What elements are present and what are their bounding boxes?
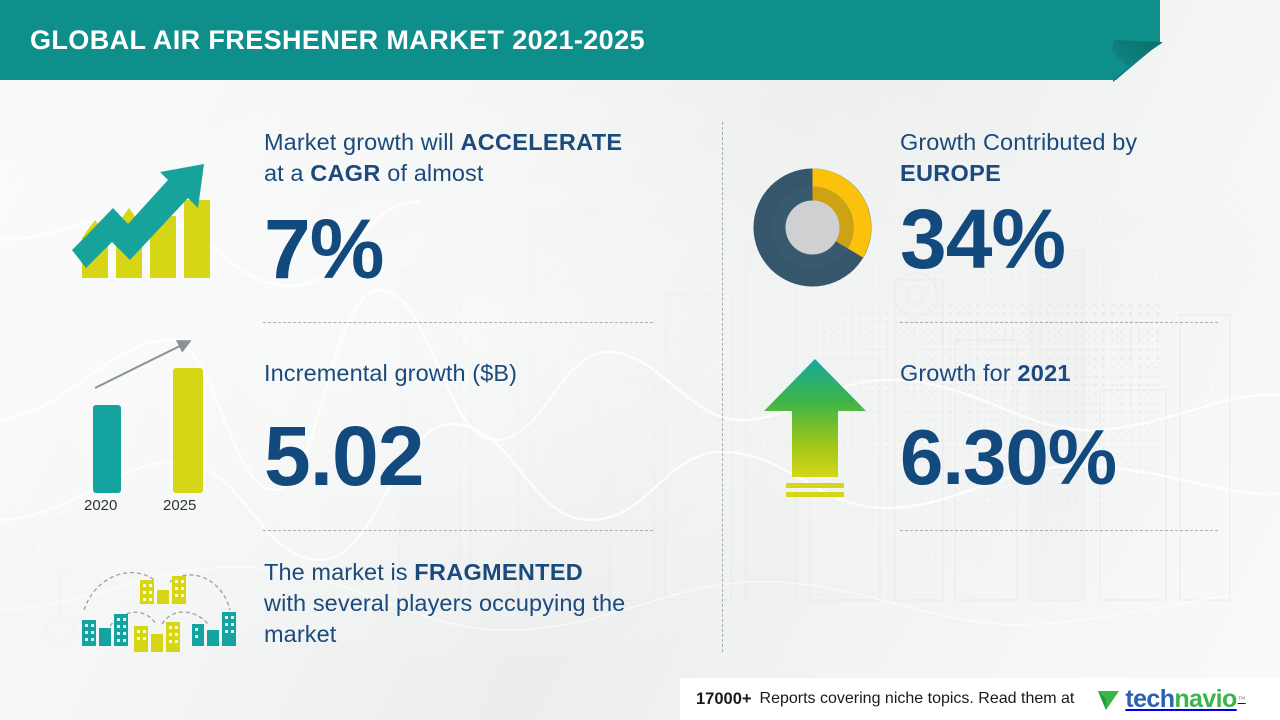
fragmentation-text-b: with several players occupying the [264,590,625,616]
logo-word-tech: tech [1125,685,1174,713]
cagr-text-accelerate: ACCELERATE [460,129,622,155]
growth-2021-label: Growth for 2021 [900,358,1071,389]
technavio-arrow-icon [1096,686,1122,712]
divider-right-2 [900,530,1218,531]
cagr-text-a: Market growth will [264,129,460,155]
logo-trademark: ™ [1238,695,1246,704]
divider-right-1 [900,322,1218,323]
cagr-description: Market growth will ACCELERATE at a CAGR … [264,127,664,189]
footer-report-count: 17000+ [696,690,752,709]
footer-bar: 17000+ Reports covering niche topics. Re… [680,678,1280,720]
cagr-value: 7% [264,207,383,291]
europe-contribution-label: Growth Contributed by EUROPE [900,127,1220,189]
infographic-canvas: GLOBAL AIR FRESHENER MARKET 2021-2025 Ma… [0,0,1280,720]
two-bar-chart-icon [70,330,230,515]
growth-2021-value: 6.30% [900,418,1116,496]
donut-chart-icon [745,160,880,295]
incremental-growth-value: 5.02 [264,414,424,498]
bar-label-2025: 2025 [163,497,196,514]
cagr-text-b: at a [264,160,310,186]
divider-left-2 [263,530,653,531]
cagr-text-cagr: CAGR [310,160,380,186]
cagr-text-c: of almost [381,160,484,186]
technavio-wordmark: technavio [1125,687,1236,712]
europe-label-bold: EUROPE [900,160,1001,186]
divider-left-1 [263,322,653,323]
column-divider [722,122,723,652]
up-arrow-icon [760,355,870,505]
logo-word-navio: navio [1174,685,1236,713]
europe-contribution-value: 34% [900,197,1065,281]
fragmentation-text-fragmented: FRAGMENTED [414,559,583,585]
page-title: GLOBAL AIR FRESHENER MARKET 2021-2025 [30,0,645,80]
fragmentation-text-a: The market is [264,559,414,585]
incremental-growth-label: Incremental growth ($B) [264,358,517,389]
fragmentation-description: The market is FRAGMENTED with several pl… [264,557,684,650]
growth-arrow-bars-icon [68,150,228,290]
city-cluster-icon [62,558,252,663]
technavio-logo[interactable]: technavio ™ [1096,686,1245,712]
growth-2021-label-bold: 2021 [1017,360,1070,386]
growth-2021-label-text: Growth for [900,360,1017,386]
footer-caption: Reports covering niche topics. Read them… [760,690,1075,708]
bar-label-2020: 2020 [84,497,117,514]
fragmentation-text-c: market [264,621,336,647]
europe-label-text: Growth Contributed by [900,129,1137,155]
